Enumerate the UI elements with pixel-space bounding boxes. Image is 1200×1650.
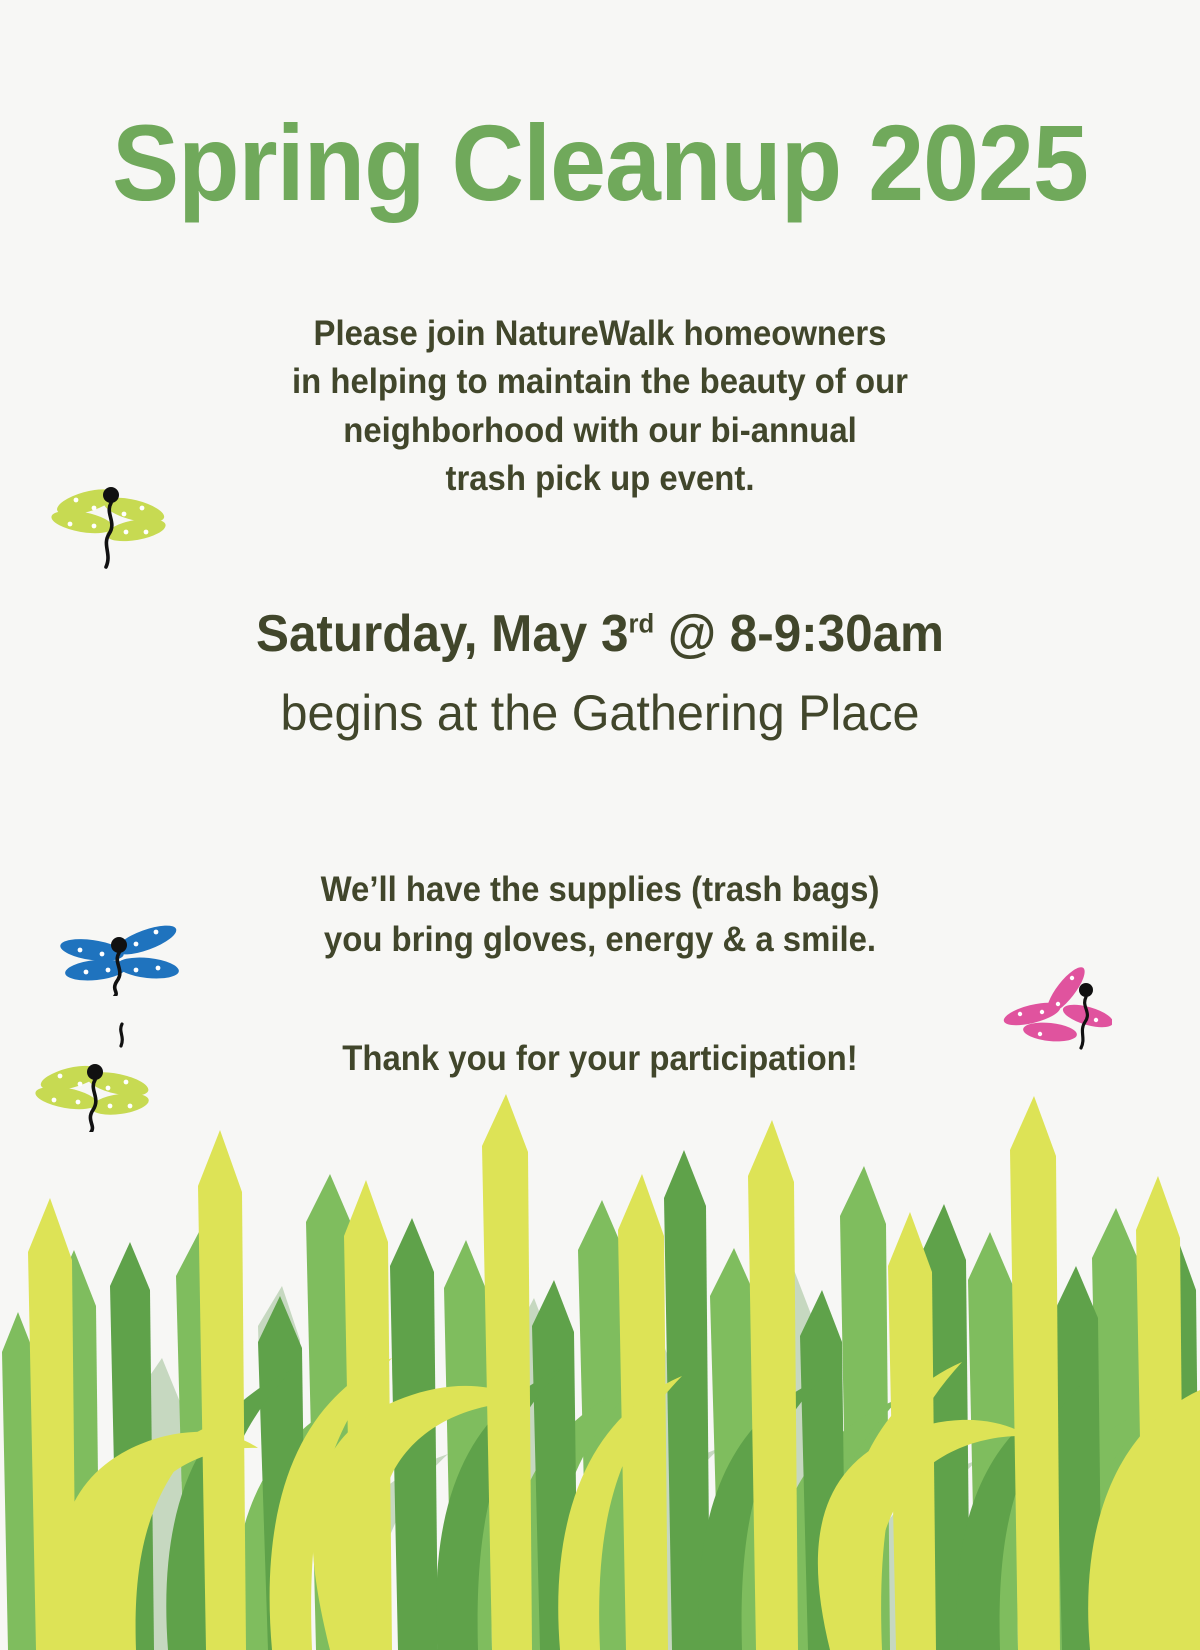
intro-line-3: neighborhood with our bi-annual <box>36 407 1164 455</box>
intro-paragraph: Please join NatureWalk homeowners in hel… <box>36 310 1164 503</box>
event-time-suffix: @ 8-9:30am <box>654 605 944 663</box>
dragonfly-green-top-icon <box>42 462 174 574</box>
supplies-paragraph: We’ll have the supplies (trash bags) you… <box>36 865 1164 964</box>
page-title: Spring Cleanup 2025 <box>42 108 1158 218</box>
poster-canvas: Spring Cleanup 2025 Please join NatureWa… <box>0 0 1200 1650</box>
intro-line-1: Please join NatureWalk homeowners <box>36 310 1164 358</box>
intro-line-4: trash pick up event. <box>36 455 1164 503</box>
supplies-line-1: We’ll have the supplies (trash bags) <box>36 865 1164 915</box>
event-date-prefix: Saturday, May 3 <box>256 605 628 663</box>
intro-line-2: in helping to maintain the beauty of our <box>36 358 1164 406</box>
event-location-line: begins at the Gathering Place <box>18 688 1182 738</box>
dragonfly-blue-icon <box>46 888 184 996</box>
event-date-ordinal: rd <box>628 609 654 639</box>
grass-illustration <box>0 1090 1200 1650</box>
dragonfly-pink-icon <box>988 952 1112 1056</box>
event-date-line: Saturday, May 3rd @ 8-9:30am <box>30 608 1170 660</box>
dragonfly-green-bottom-icon <box>26 1022 156 1132</box>
